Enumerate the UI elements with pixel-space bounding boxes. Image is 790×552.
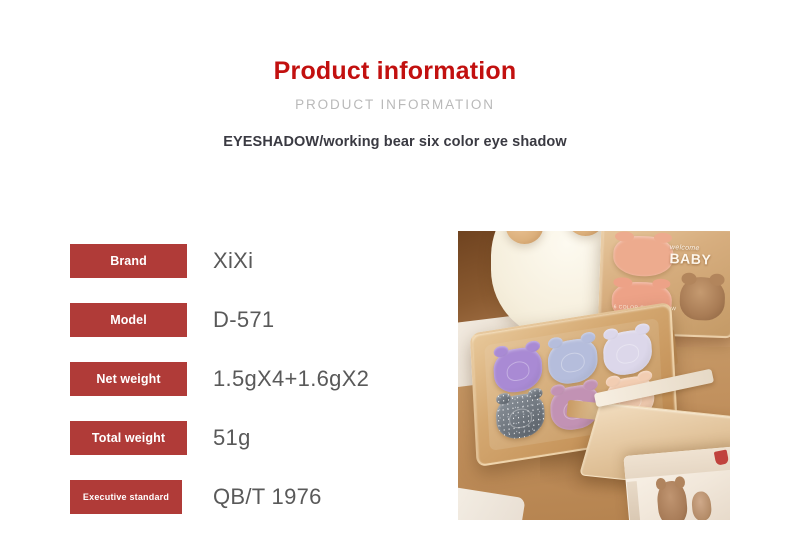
spec-label-model: Model — [70, 303, 187, 337]
spec-value-model: D-571 — [213, 307, 274, 333]
product-name-line: EYESHADOW/working bear six color eye sha… — [0, 134, 790, 150]
packaging-bear-graphic-small — [690, 490, 712, 520]
product-photo: welcome BABY 6 COLOR EYESHADOW — [458, 231, 730, 520]
page-header: Product information PRODUCT INFORMATION … — [0, 0, 790, 150]
spec-label-executive-standard: Executive standard — [70, 480, 182, 514]
pan-bear-emboss — [615, 342, 639, 365]
spec-row-executive-standard: Executive standard QB/T 1976 — [70, 480, 430, 514]
page-title: Product information — [0, 58, 790, 86]
spec-table: Brand XiXi Model D-571 Net weight 1.5gX4… — [70, 244, 430, 514]
packaging-bear-graphic-large — [655, 480, 688, 520]
spec-row-model: Model D-571 — [70, 303, 430, 337]
easel-palette-text: welcome BABY — [670, 244, 730, 268]
spec-row-net-weight: Net weight 1.5gX4+1.6gX2 — [70, 362, 430, 396]
pan-bear-emboss — [506, 360, 530, 383]
easel-pan-top — [613, 235, 675, 278]
easel-text-baby: BABY — [670, 252, 730, 269]
plush-bear-paw-right — [567, 231, 604, 236]
plush-bear-paw-left — [506, 231, 543, 244]
easel-bear-graphic — [680, 277, 726, 321]
packaging-box-side-panel — [626, 481, 640, 520]
spec-label-net-weight: Net weight — [70, 362, 187, 396]
spec-value-brand: XiXi — [213, 248, 253, 274]
pan-bear-emboss — [508, 407, 532, 430]
product-photo-scene: welcome BABY 6 COLOR EYESHADOW — [458, 231, 730, 520]
spec-row-brand: Brand XiXi — [70, 244, 430, 278]
spec-label-total-weight: Total weight — [70, 421, 187, 455]
product-packaging-box — [623, 446, 730, 520]
spec-row-total-weight: Total weight 51g — [70, 421, 430, 455]
spec-value-executive-standard: QB/T 1976 — [213, 484, 322, 510]
spec-label-brand: Brand — [70, 244, 187, 278]
spec-value-total-weight: 51g — [213, 425, 251, 451]
pan-bear-emboss — [560, 351, 584, 374]
page-subtitle: PRODUCT INFORMATION — [0, 97, 790, 112]
spec-value-net-weight: 1.5gX4+1.6gX2 — [213, 366, 369, 392]
pan-glitter-gray — [495, 391, 546, 442]
